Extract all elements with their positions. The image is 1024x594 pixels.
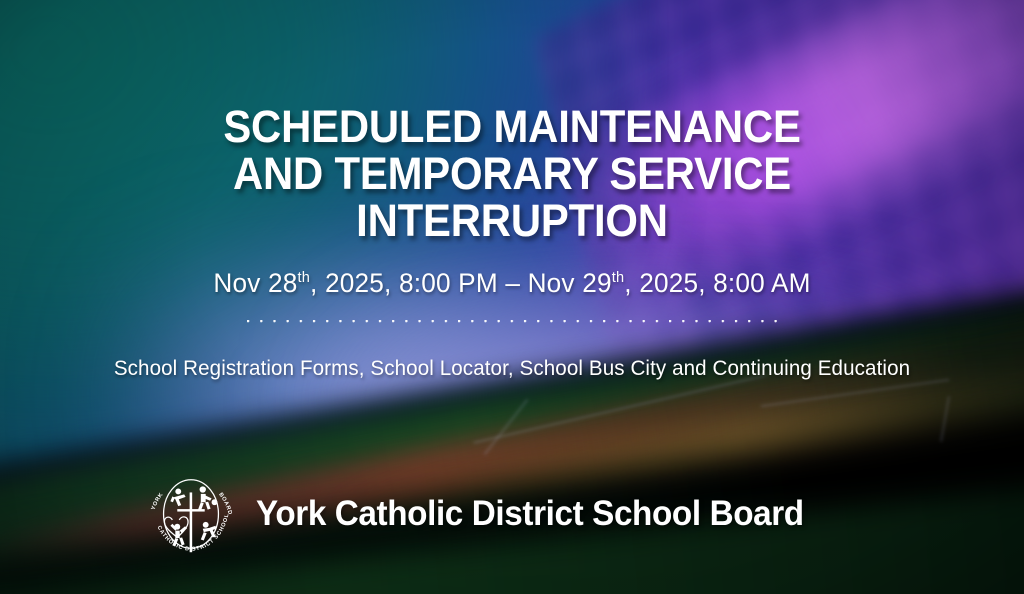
- dotted-divider: [247, 320, 777, 324]
- banner-headline: SCHEDULED MAINTENANCE AND TEMPORARY SERV…: [36, 103, 988, 244]
- ycdsb-crest-icon: YORK BOARD CATHOLIC DISTRICT SCHOOL: [142, 462, 240, 566]
- start-date-ordinal: th: [298, 269, 311, 286]
- date-range-separator: –: [498, 268, 528, 298]
- maintenance-notice-banner: SCHEDULED MAINTENANCE AND TEMPORARY SERV…: [0, 0, 1024, 594]
- headline-line-3: INTERRUPTION: [36, 197, 988, 244]
- crest-ring-text: CATHOLIC DISTRICT SCHOOL: [156, 513, 231, 553]
- start-date-prefix: Nov 28: [213, 268, 297, 298]
- maintenance-window-dates: Nov 28th, 2025, 8:00 PM – Nov 29th, 2025…: [15, 268, 1008, 299]
- headline-line-1: SCHEDULED MAINTENANCE: [36, 103, 988, 150]
- banner-content: SCHEDULED MAINTENANCE AND TEMPORARY SERV…: [0, 0, 1024, 594]
- brand-lockup: YORK BOARD CATHOLIC DISTRICT SCHOOL York…: [142, 462, 833, 566]
- crest-ring-text: YORK: [151, 491, 165, 511]
- brand-name-text: York Catholic District School Board: [256, 494, 804, 534]
- crest-ring-text: BOARD: [217, 492, 233, 516]
- end-date-prefix: Nov 29: [528, 268, 612, 298]
- end-date-suffix: , 2025, 8:00 AM: [624, 268, 810, 298]
- headline-line-2: AND TEMPORARY SERVICE: [36, 150, 988, 197]
- start-date-suffix: , 2025, 8:00 PM: [310, 268, 498, 298]
- end-date-ordinal: th: [612, 269, 625, 286]
- affected-services-text: School Registration Forms, School Locato…: [10, 357, 1014, 381]
